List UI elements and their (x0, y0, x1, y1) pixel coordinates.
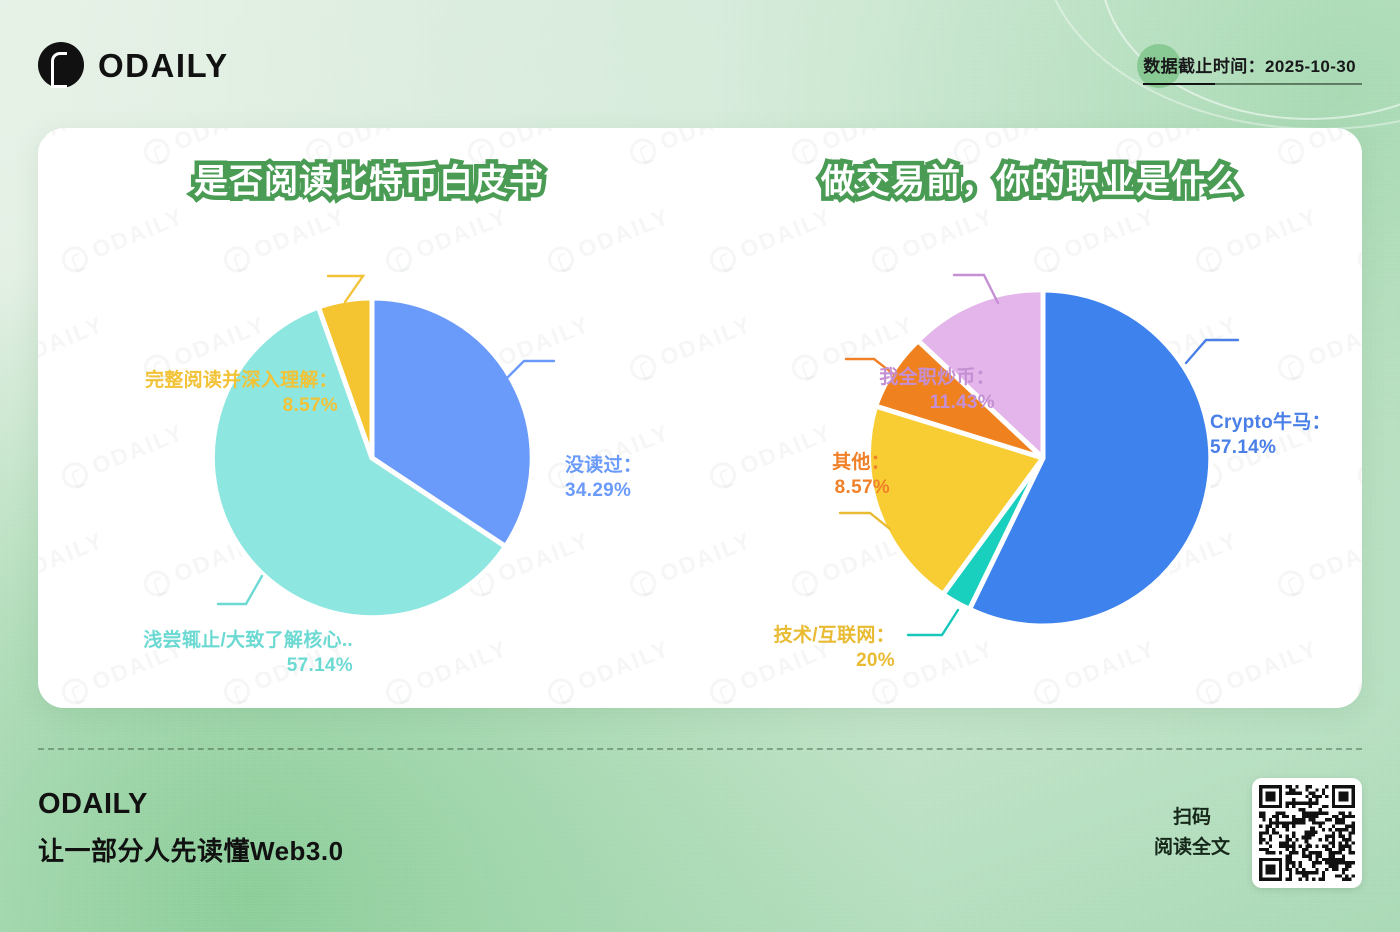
pie-label-left-1-name: 浅尝辄止/大致了解核心.. (143, 630, 353, 651)
scan-instructions: 扫码 阅读全文 (1154, 803, 1230, 864)
leader-line-left-1 (218, 576, 262, 604)
pie-label-right-2-value: 20% (700, 648, 895, 673)
pie-chart-left (202, 288, 542, 628)
odaily-wordmark: ODAILY (98, 49, 229, 82)
leader-line-right-1 (908, 610, 958, 635)
chart-panel-occupation: 做交易前，你的职业是什么 (700, 128, 1362, 708)
footer-brand: ODAILY (38, 788, 344, 821)
pie-label-right-0-name: Crypto牛马： (1210, 412, 1331, 433)
scan-section: 扫码 阅读全文 (1154, 778, 1362, 888)
pie-chart-right (868, 283, 1218, 633)
pie-label-left-2-name: 完整阅读并深入理解： (145, 370, 338, 391)
pie-label-left-1: 浅尝辄止/大致了解核心.. 57.14% (63, 628, 353, 678)
pie-label-right-0-value: 57.14% (1210, 435, 1362, 460)
pie-label-right-0: Crypto牛马： 57.14% (1210, 410, 1362, 460)
pie-label-left-2-value: 8.57% (78, 393, 338, 418)
badge-underline (1143, 83, 1362, 85)
pie-label-right-3-value: 8.57% (700, 475, 890, 500)
qr-code-svg (1259, 785, 1355, 881)
pie-label-left-1-value: 57.14% (63, 653, 353, 678)
pie-label-right-2-name: 技术/互联网： (774, 625, 895, 646)
scan-line-2: 阅读全文 (1154, 833, 1230, 863)
chart-title-right: 做交易前，你的职业是什么 (700, 154, 1362, 203)
pie-label-right-4-value: 11.43% (710, 390, 995, 415)
pie-svg-left (202, 288, 542, 628)
pie-label-left-2: 完整阅读并深入理解： 8.57% (78, 368, 338, 418)
pie-label-right-2: 技术/互联网： 20% (700, 623, 895, 673)
pie-label-right-4-name: 我全职炒币： (879, 367, 995, 388)
footer-branding: ODAILY 让一部分人先读懂Web3.0 (38, 788, 344, 868)
odaily-logo-icon (38, 42, 84, 88)
chart-panel-whitepaper: 是否阅读比特币白皮书 完整阅读并深入理解： (38, 128, 700, 708)
data-cutoff-label: 数据截止时间：2025-10-30 (1143, 52, 1356, 77)
data-cutoff-badge: 数据截止时间：2025-10-30 (1129, 48, 1362, 85)
pie-svg-right (868, 283, 1218, 633)
pie-label-right-3-name: 其他： (832, 452, 890, 473)
page-header: ODAILY 数据截止时间：2025-10-30 (0, 0, 1400, 120)
leader-line-right-0 (1186, 340, 1238, 363)
charts-card: ODAILYODAILYODAILYODAILYODAILYODAILYODAI… (38, 128, 1362, 708)
chart-title-left: 是否阅读比特币白皮书 (38, 154, 700, 203)
footer-divider (38, 748, 1362, 750)
scan-line-1: 扫码 (1154, 803, 1230, 833)
pie-label-right-3: 其他： 8.57% (700, 450, 890, 500)
odaily-logo: ODAILY (38, 42, 229, 88)
pie-label-left-0-name: 没读过： (565, 455, 642, 476)
footer-tagline: 让一部分人先读懂Web3.0 (38, 831, 344, 868)
pie-label-right-4: 我全职炒币： 11.43% (710, 365, 995, 415)
qr-code-icon[interactable] (1252, 778, 1362, 888)
infographic-page: ODAILY 数据截止时间：2025-10-30 ODAILYODAILYODA… (0, 0, 1400, 932)
